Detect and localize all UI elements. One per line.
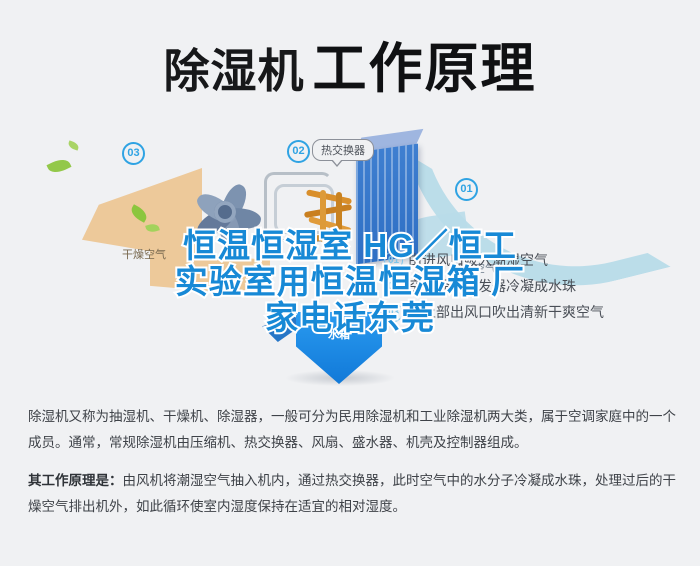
copper-wire xyxy=(320,190,326,242)
leaf-icon xyxy=(46,156,71,176)
paragraph-2: 其工作原理是：由风机将潮湿空气抽入机内，通过热交换器，此时空气中的水分子冷凝成水… xyxy=(28,468,676,520)
title-part-primary: 除湿机 xyxy=(164,45,305,97)
legend-text: 由进风口吸入潮湿空气 xyxy=(408,252,548,268)
copper-coil xyxy=(304,190,356,244)
page-title: 除湿机工作原理 xyxy=(0,24,700,103)
dehumidifier-diagram: 水箱 03 02 01 热交换器 干燥空气 潮湿空气 01由进风口吸入潮湿空气 … xyxy=(0,120,700,390)
legend-text: 空气经过蒸发器冷凝成水珠 xyxy=(408,278,576,294)
article-body: 除湿机又称为抽湿机、干燥机、除湿器，一般可分为民用除湿机和工业除湿机两大类，属于… xyxy=(28,404,676,532)
marker-01-moist-air: 01 xyxy=(455,178,478,201)
paragraph-2-lead: 其工作原理是： xyxy=(28,473,123,488)
title-part-secondary: 工作原理 xyxy=(313,39,537,99)
copper-wire xyxy=(336,192,342,242)
heat-exchanger-fins xyxy=(356,144,418,265)
compressor-coil-icon xyxy=(262,162,358,258)
legend-number: 03 xyxy=(384,303,403,322)
legend-row: 01由进风口吸入潮湿空气 xyxy=(384,250,700,276)
paragraph-2-text: 由风机将潮湿空气抽入机内，通过热交换器，此时空气中的水分子冷凝成水珠，处理过后的… xyxy=(28,473,676,514)
legend-row: 03从上部出风口吹出清新干爽空气 xyxy=(384,302,700,328)
heat-exchanger-callout: 热交换器 xyxy=(312,139,374,161)
legend-text: 从上部出风口吹出清新干爽空气 xyxy=(408,304,604,320)
paragraph-1: 除湿机又称为抽湿机、干燥机、除湿器，一般可分为民用除湿机和工业除湿机两大类，属于… xyxy=(28,404,676,456)
copper-wire xyxy=(306,189,352,204)
dry-air-label: 干燥空气 xyxy=(122,246,166,262)
fan-icon xyxy=(186,168,272,260)
fan-hub xyxy=(214,201,236,223)
copper-wire xyxy=(308,216,352,234)
copper-wire xyxy=(310,232,350,242)
heat-exchanger-block xyxy=(356,144,418,265)
diagram-legend: 01由进风口吸入潮湿空气 02空气经过蒸发器冷凝成水珠 03从上部出风口吹出清新… xyxy=(384,250,700,328)
legend-row: 02空气经过蒸发器冷凝成水珠 xyxy=(384,276,700,302)
legend-number: 01 xyxy=(384,251,403,270)
leaf-icon xyxy=(67,140,80,150)
water-tank-label: 水箱 xyxy=(296,326,382,342)
marker-03-dry-air: 03 xyxy=(122,142,145,165)
marker-02-heat-exchanger: 02 xyxy=(287,140,310,163)
poster-page: 除湿机工作原理 xyxy=(0,0,700,566)
legend-number: 02 xyxy=(384,277,403,296)
